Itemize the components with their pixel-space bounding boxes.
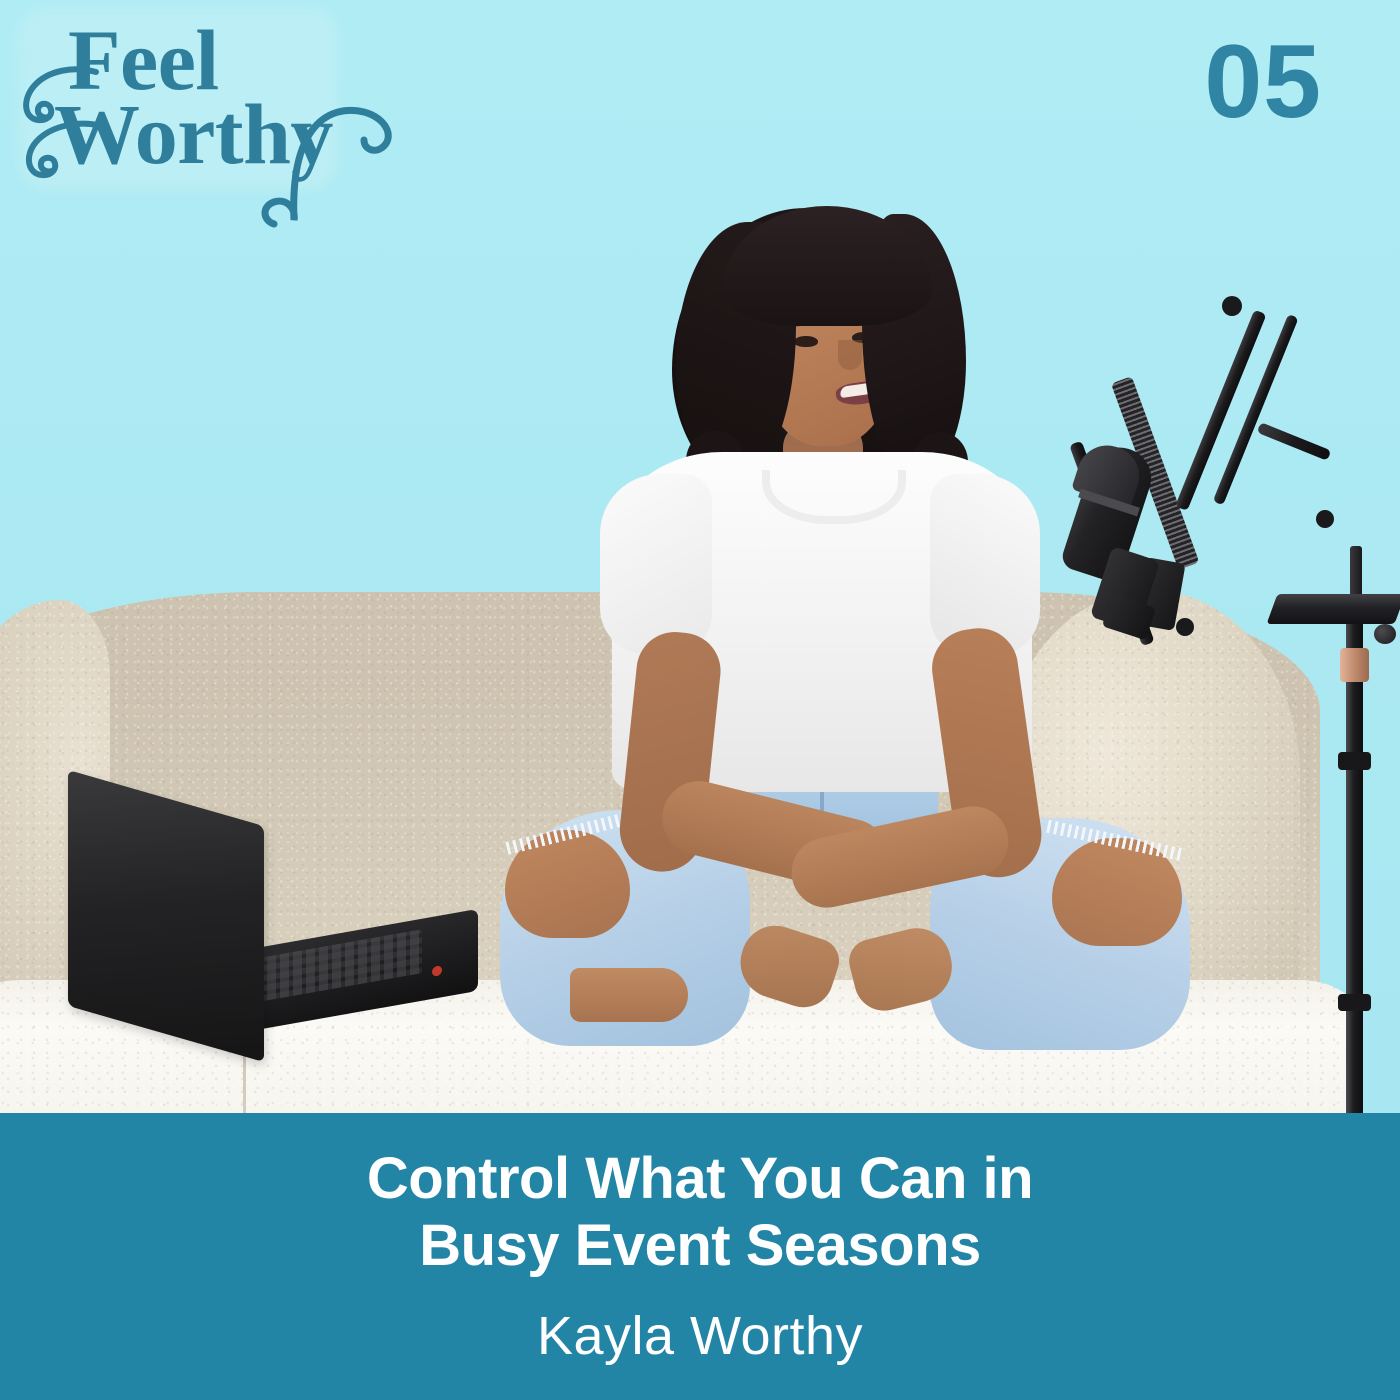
logo-line-2: Worthy bbox=[54, 98, 333, 172]
episode-title-line-1: Control What You Can in bbox=[0, 1145, 1400, 1212]
episode-number: 05 bbox=[1204, 30, 1322, 134]
stand-adjust-knob bbox=[1374, 624, 1396, 644]
brand-logo[interactable]: Feel Worthy bbox=[52, 16, 392, 196]
title-banner: Control What You Can in Busy Event Seaso… bbox=[0, 1113, 1400, 1400]
bare-foot bbox=[570, 968, 688, 1022]
boom-joint-apex bbox=[1222, 296, 1242, 316]
stand-clamp-lower bbox=[1338, 994, 1371, 1011]
stand-pole bbox=[1346, 612, 1363, 1124]
boom-joint-stand bbox=[1316, 510, 1334, 528]
boom-joint-lower bbox=[1176, 618, 1194, 636]
eye-left bbox=[794, 336, 818, 347]
episode-title-line-2: Busy Event Seasons bbox=[0, 1212, 1400, 1279]
stand-clamp-upper bbox=[1338, 752, 1371, 770]
podcast-episode-cover: Feel Worthy 05 Control What You Can in B… bbox=[0, 0, 1400, 1400]
stand-tray bbox=[1267, 594, 1400, 624]
guest-name: Kayla Worthy bbox=[0, 1305, 1400, 1367]
nose bbox=[838, 340, 862, 370]
episode-title: Control What You Can in Busy Event Seaso… bbox=[0, 1145, 1400, 1280]
tshirt-sleeve-left bbox=[600, 474, 712, 654]
stand-collar-rosegold bbox=[1340, 648, 1369, 682]
